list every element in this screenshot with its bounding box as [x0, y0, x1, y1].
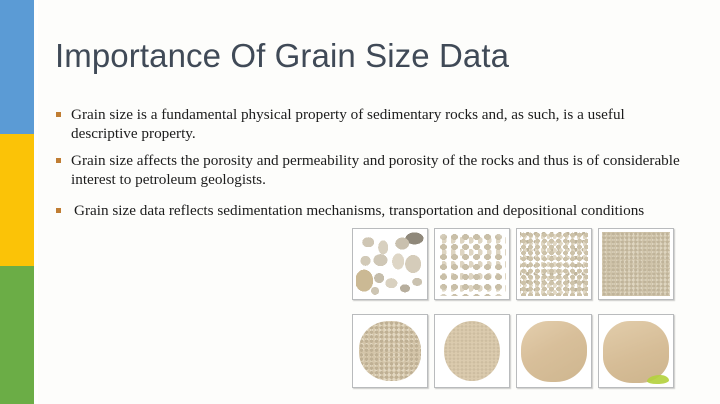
- rail-soft-edge: [34, 0, 38, 404]
- coarse-to-fine-row: [352, 228, 674, 300]
- bullet-item: Grain size affects the porosity and perm…: [55, 152, 680, 189]
- bullet-text: Grain size is a fundamental physical pro…: [71, 106, 680, 143]
- bullet-square-icon: [56, 208, 61, 213]
- grain-texture: [356, 232, 424, 296]
- sand-blob: [359, 321, 422, 380]
- sand-blob: [444, 321, 500, 380]
- grain-texture: [438, 232, 506, 296]
- bullet-item: Grain size is a fundamental physical pro…: [55, 106, 680, 143]
- bullet-square-icon: [56, 112, 61, 117]
- rail-band-yellow: [0, 134, 34, 266]
- fine-to-very-fine-row: [352, 314, 674, 388]
- very-coarse-grains-sample: [352, 228, 428, 300]
- sand-blob: [603, 321, 670, 383]
- bullet-item: Grain size data reflects sedimentation m…: [55, 198, 680, 224]
- bullet-text: Grain size data reflects sedimentation m…: [71, 198, 680, 224]
- bullet-text: Grain size affects the porosity and perm…: [71, 152, 680, 189]
- grain-size-photo-grid: [352, 228, 674, 388]
- coarse-grains-sample: [434, 228, 510, 300]
- silt-sample: [434, 314, 510, 388]
- left-color-rail: [0, 0, 34, 404]
- clay-silt-sample: [516, 314, 592, 388]
- rail-band-blue: [0, 0, 34, 134]
- grain-texture: [602, 318, 670, 384]
- clay-sample: [598, 314, 674, 388]
- grain-texture: [602, 232, 670, 296]
- bullet-list: Grain size is a fundamental physical pro…: [55, 106, 680, 233]
- bullet-square-icon: [56, 158, 61, 163]
- grain-texture: [520, 232, 588, 296]
- grain-texture: [520, 318, 588, 384]
- grain-texture: [438, 318, 506, 384]
- grain-texture: [356, 318, 424, 384]
- slide: Importance Of Grain Size Data Grain size…: [0, 0, 720, 404]
- medium-grains-sample: [516, 228, 592, 300]
- green-leaf-mark-icon: [647, 375, 669, 384]
- fine-grains-sample: [598, 228, 674, 300]
- page-title: Importance Of Grain Size Data: [55, 36, 675, 76]
- rail-band-green: [0, 266, 34, 404]
- sand-blob: [521, 321, 586, 382]
- very-fine-sand-sample: [352, 314, 428, 388]
